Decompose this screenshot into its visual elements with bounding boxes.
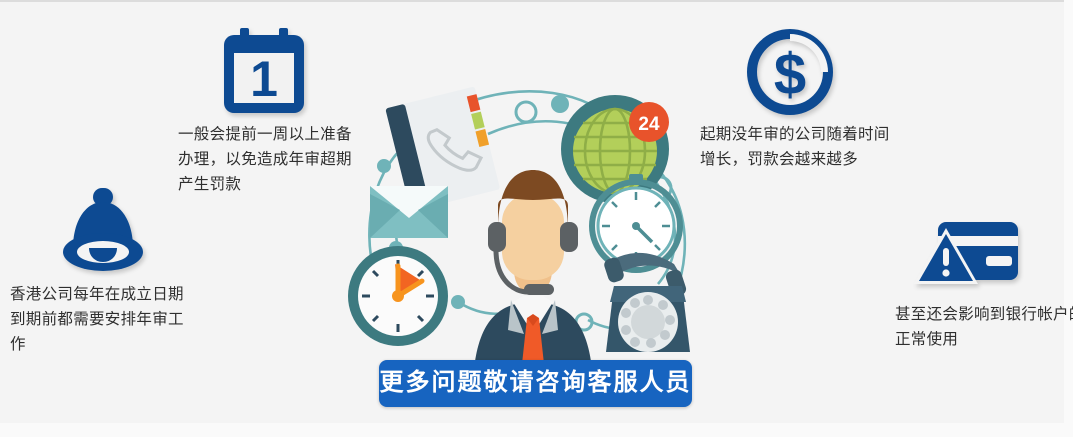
panel-bottom-fill xyxy=(0,423,1073,437)
dollar-circle-icon: $ xyxy=(742,24,838,125)
infographic-banner: 1 $ xyxy=(0,0,1073,437)
envelope-icon xyxy=(370,186,448,238)
bell-icon xyxy=(55,186,151,283)
callout-text-bottom-left: 香港公司每年在成立日期到期前都需要安排年审工作 xyxy=(10,282,190,357)
customer-service-agent-illustration: 24 xyxy=(338,34,728,384)
dollar-symbol: $ xyxy=(774,42,806,107)
callout-text-bottom-right: 甚至还会影响到银行帐户的正常使用 xyxy=(895,302,1073,352)
analog-clock-icon xyxy=(348,246,448,346)
headset-agent-avatar xyxy=(473,170,593,382)
credit-card-warning-icon xyxy=(912,218,1022,307)
contact-support-button[interactable]: 更多问题敬请咨询客服人员 xyxy=(379,360,692,407)
globe-badge-label: 24 xyxy=(638,114,660,135)
calendar-day-number: 1 xyxy=(250,51,278,107)
callout-text-top-left: 一般会提前一周以上准备办理，以免造成年审超期产生罚款 xyxy=(178,122,353,197)
calendar-icon: 1 xyxy=(218,25,310,122)
panel-right-fill xyxy=(1064,0,1073,437)
callout-text-top-right: 起期没年审的公司随着时间增长，罚款会越来越多 xyxy=(700,122,890,172)
